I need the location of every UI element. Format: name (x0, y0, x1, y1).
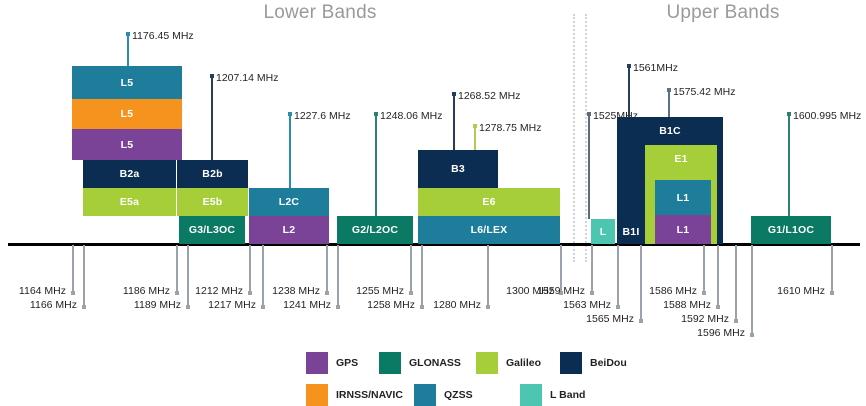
divider-line (573, 14, 575, 262)
tick-label: 1586 MHz (649, 285, 697, 297)
tick-label: 1592 MHz (681, 313, 729, 325)
callout-label: 1278.75 MHz (479, 122, 541, 134)
tick-cap (336, 305, 340, 309)
callout-cap (667, 88, 671, 92)
tick-cap (186, 305, 190, 309)
band-block[interactable]: G3/L3OC (179, 216, 245, 244)
tick-label: 1189 MHz (134, 299, 181, 311)
band-block[interactable]: L5 (72, 129, 182, 160)
tick-stem (410, 245, 412, 291)
callout-cap (627, 64, 631, 68)
legend-label: GPS (336, 357, 358, 369)
callout-cap (374, 112, 378, 116)
callout-stem (375, 112, 377, 216)
legend-swatch (379, 352, 401, 374)
tick-stem (591, 245, 593, 291)
callout-label: 1600.995 MHz (793, 110, 861, 122)
gnss-frequency-band-chart: Lower BandsUpper Bands 1176.45 MHz1207.1… (0, 0, 866, 406)
tick-label: 1258 MHz (367, 299, 415, 311)
tick-stem (703, 245, 705, 291)
callout-label: 1268.52 MHz (458, 90, 520, 102)
tick-cap (590, 291, 594, 295)
legend-item[interactable]: GPS (306, 352, 358, 374)
band-block[interactable]: L2C (249, 188, 329, 216)
band-block[interactable]: B2a (83, 160, 176, 188)
legend-label: BeiDou (590, 357, 627, 369)
callout-stem (588, 112, 590, 219)
band-block[interactable]: B3 (418, 150, 498, 188)
legend-swatch (520, 384, 542, 406)
tick-cap (325, 291, 329, 295)
section-title: Lower Bands (170, 2, 470, 24)
legend-item[interactable]: IRNSS/NAVIC (306, 384, 403, 406)
tick-stem (176, 245, 178, 291)
callout-cap (210, 74, 214, 78)
legend-swatch (306, 384, 328, 406)
tick-stem (831, 245, 833, 291)
tick-stem (72, 245, 74, 291)
tick-label: 1212 MHz (195, 285, 243, 297)
tick-cap (71, 291, 75, 295)
callout-label: 1227.6 MHz (294, 110, 351, 122)
tick-label: 1166 MHz (30, 299, 77, 311)
tick-label: 1565 MHz (586, 313, 634, 325)
band-block[interactable]: E5b (177, 188, 248, 216)
band-block[interactable]: E5a (83, 188, 176, 216)
band-block[interactable]: L2 (249, 216, 329, 244)
tick-label: 1588 MHz (663, 299, 711, 311)
callout-stem (453, 92, 455, 150)
legend-label: GLONASS (409, 357, 461, 369)
legend-swatch (306, 352, 328, 374)
callout-stem (127, 32, 129, 66)
legend: GPSGLONASSGalileoBeiDouIRNSS/NAVICQZSSL … (0, 350, 866, 406)
callout-label: 1575.42 MHz (673, 86, 735, 98)
tick-label: 1610 MHz (777, 285, 825, 297)
band-block[interactable]: E6 (418, 188, 560, 216)
tick-stem (187, 245, 189, 305)
legend-item[interactable]: GLONASS (379, 352, 461, 374)
tick-stem (326, 245, 328, 291)
band-block[interactable]: L1 (655, 180, 711, 215)
callout-cap (787, 112, 791, 116)
tick-cap (82, 305, 86, 309)
tick-label: 1255 MHz (356, 285, 404, 297)
callout-label: 1248.06 MHz (380, 110, 442, 122)
tick-label: 1217 MHz (208, 299, 256, 311)
tick-cap (420, 305, 424, 309)
tick-cap (734, 319, 738, 323)
tick-label: 1563 MHz (563, 299, 611, 311)
tick-cap (616, 305, 620, 309)
band-block[interactable]: L1 (655, 215, 711, 244)
legend-swatch (476, 352, 498, 374)
callout-cap (473, 124, 477, 128)
callout-label: 1207.14 MHz (216, 72, 278, 84)
tick-label: 1280 MHz (433, 299, 481, 311)
tick-cap (750, 333, 754, 337)
legend-item[interactable]: Galileo (476, 352, 541, 374)
callout-stem (628, 64, 630, 117)
tick-cap (639, 319, 643, 323)
section-title: Upper Bands (573, 2, 866, 24)
band-block[interactable]: G2/L2OC (337, 216, 413, 244)
tick-stem (421, 245, 423, 305)
legend-label: Galileo (506, 357, 541, 369)
band-block[interactable]: L6/LEX (418, 216, 560, 244)
band-block[interactable]: L5 (72, 99, 182, 129)
legend-item[interactable]: L Band (520, 384, 585, 406)
legend-swatch (414, 384, 436, 406)
tick-cap (486, 305, 490, 309)
tick-stem (487, 245, 489, 305)
band-block[interactable]: B1I (617, 219, 645, 244)
legend-item[interactable]: BeiDou (560, 352, 627, 374)
tick-label: 1596 MHz (697, 327, 745, 339)
legend-label: IRNSS/NAVIC (336, 389, 403, 401)
tick-label: 1241 MHz (283, 299, 331, 311)
divider-line (585, 14, 587, 262)
tick-stem (640, 245, 642, 319)
callout-label: 1561MHz (633, 62, 678, 74)
band-block[interactable]: B2b (177, 160, 248, 188)
legend-label: L Band (550, 389, 585, 401)
legend-label: QZSS (444, 389, 473, 401)
band-block[interactable]: L (591, 219, 615, 244)
callout-cap (587, 112, 591, 116)
tick-stem (262, 245, 264, 305)
tick-cap (409, 291, 413, 295)
tick-stem (735, 245, 737, 319)
callout-stem (788, 112, 790, 216)
tick-stem (83, 245, 85, 305)
band-block[interactable]: L5 (72, 66, 182, 99)
tick-stem (617, 245, 619, 305)
tick-label: 1559 MHz (537, 285, 585, 297)
legend-swatch (560, 352, 582, 374)
tick-stem (717, 245, 719, 305)
tick-label: 1164 MHz (19, 285, 66, 297)
tick-label: 1186 MHz (123, 285, 170, 297)
tick-cap (702, 291, 706, 295)
tick-stem (751, 245, 753, 333)
callout-cap (288, 112, 292, 116)
tick-label: 1238 MHz (272, 285, 320, 297)
callout-stem (289, 112, 291, 188)
callout-cap (126, 32, 130, 36)
tick-cap (248, 291, 252, 295)
callout-label: 1176.45 MHz (132, 30, 194, 42)
tick-stem (249, 245, 251, 291)
callout-cap (452, 92, 456, 96)
band-block[interactable]: G1/L1OC (751, 216, 831, 244)
tick-cap (261, 305, 265, 309)
tick-cap (716, 305, 720, 309)
tick-cap (830, 291, 834, 295)
tick-stem (337, 245, 339, 305)
tick-cap (175, 291, 179, 295)
legend-item[interactable]: QZSS (414, 384, 473, 406)
callout-stem (211, 74, 213, 160)
